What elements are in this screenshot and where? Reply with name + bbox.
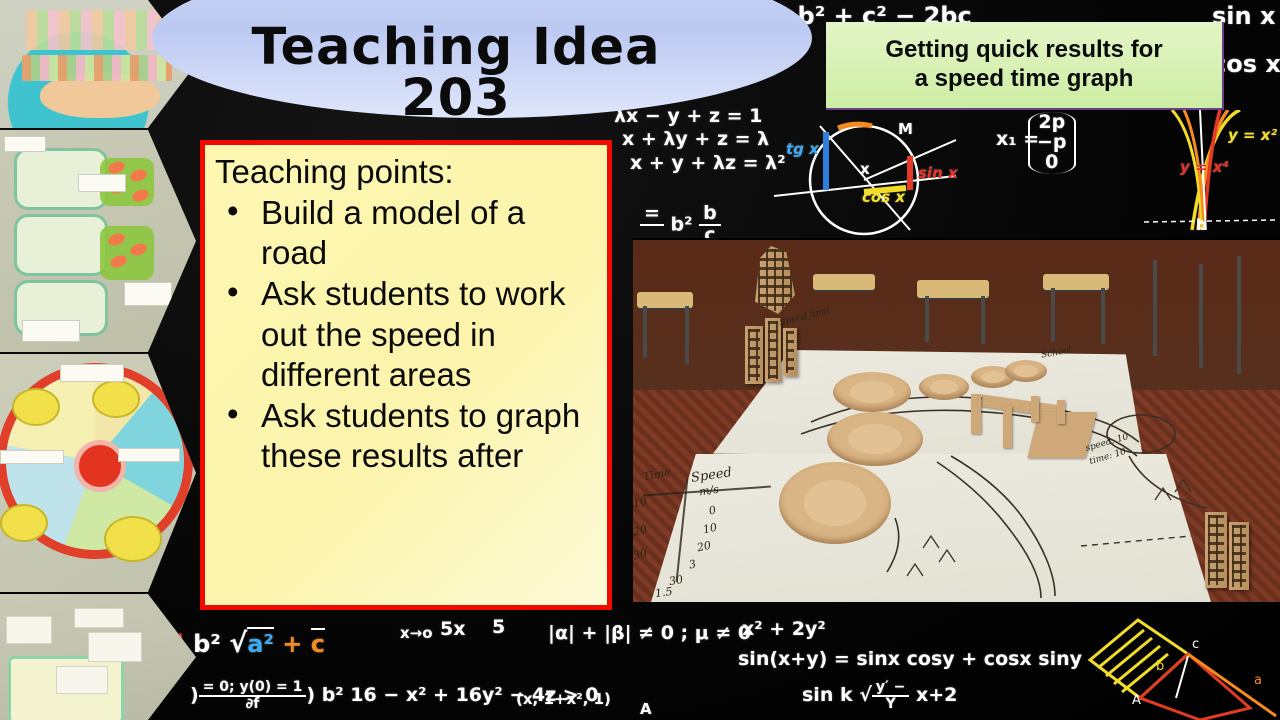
photo-bridge-pillar [1031,396,1039,422]
teaching-points-list: • Build a model of a road • Ask students… [215,193,597,477]
equals-sign: b² [671,213,693,235]
topic-banner: Getting quick results for a speed time g… [826,22,1224,110]
matrix-row: 2p [1037,113,1067,133]
photo-shape [60,364,124,382]
photo-shape [124,282,172,306]
chalk-term: sin k [802,684,853,706]
photo-shape [56,666,108,694]
photo-bridge-pillar [1057,400,1065,424]
chalk-label: x [860,160,870,178]
photo-shape [6,616,52,644]
chalk-label: A [640,700,652,718]
photo-building [745,326,763,384]
photo-strip [0,0,196,720]
svg-text:b: b [1156,659,1164,674]
photo-shape [118,448,180,462]
chalk-term: c [311,628,325,658]
photo-building [783,328,797,376]
list-item-label: Ask students to graph these results afte… [261,397,580,474]
photo-hill [1005,360,1047,382]
photo-shape [22,320,80,342]
chalk-equation: sin(x+y) = sinx cosy + cosx siny [738,648,1082,670]
chalk-term: + [282,630,302,658]
photo-hill [919,374,969,400]
chalk-label: b [1196,216,1207,234]
photo-hill [779,462,891,544]
chalk-label: sin x [918,164,958,182]
photo-shape [0,450,64,464]
svg-text:c: c [1192,637,1199,652]
photo-student-worksheet-display [0,594,196,720]
photo-shape [92,380,140,418]
list-item: • Ask students to work out the speed in … [215,274,597,395]
chalk-label: cos x [862,188,905,206]
chalk-equation: sin k √y′ −Y x+2 [802,680,957,711]
photo-shape [78,174,126,192]
fraction-numerator: b [699,204,721,226]
photo-cycle-wheel-poster-display [0,354,196,592]
photo-content [0,594,196,720]
list-item: • Ask students to graph these results af… [215,396,597,477]
chalk-label: tg x [786,140,819,158]
fraction-numerator: = [640,204,664,226]
photo-shape [40,72,160,118]
pythagoras-diagram: c A a b [1080,612,1280,720]
topic-banner-line1: Getting quick results for [885,36,1162,63]
photo-shape [88,632,142,662]
chalk-term: x+2 [916,684,957,706]
photo-chair-leg [1153,260,1157,356]
equals-sign: b² [193,630,221,658]
topic-banner-line2: a speed time graph [915,65,1134,92]
photo-shape [0,504,48,542]
equals-sign: b² [322,684,344,706]
photo-chair-leg [1051,288,1055,342]
list-item: • Build a model of a road [215,193,597,274]
partial-numerator: = 0; y(0) = 1 [199,680,307,697]
photo-shape [12,388,60,426]
partial-denominator: ∂f [199,697,307,712]
photo-chair-leg [1101,288,1105,344]
photo-chair-leg [925,296,929,342]
chalk-equation: x + λy + z = λ [622,128,769,150]
photo-road-model-activity: Speed m/s Time 0 10 20 3 30 1.5 10 20 30… [633,238,1280,602]
chalk-label: y = x² [1228,126,1277,144]
matrix-row: −p [1037,133,1067,153]
photo-shape [74,608,124,628]
bullet-icon: • [227,191,239,231]
photo-chair-leg [981,296,985,344]
list-item-label: Ask students to work out the speed in di… [261,275,565,393]
photo-shape [14,214,108,276]
teaching-points-card: Teaching points: • Build a model of a ro… [200,140,612,610]
teaching-points-heading: Teaching points: [215,153,597,191]
photo-handwriting: m/s [698,483,719,499]
photo-building [1205,512,1227,588]
chalk-label: 5 [492,616,505,638]
matrix-row: 0 [1037,153,1067,173]
photo-hill [827,412,923,466]
photo-building [765,318,781,382]
photo-bridge-pillar [1003,406,1012,448]
svg-text:a: a [1254,673,1262,688]
chalk-equation: |α| + |β| ≠ 0 ; μ ≠ 0 [548,622,751,644]
page-title: Teaching Idea 203 [196,22,716,124]
chalk-equation: x² + 2y² [742,618,826,640]
photo-chair [813,274,875,290]
chalk-label: (x, 1+x², 1) [516,690,611,708]
chalk-label: M [898,120,913,138]
photo-shape [4,136,46,152]
photo-building [1229,522,1249,590]
photo-shape [100,226,154,280]
photo-handwriting: 1.5 [654,585,673,600]
photo-plant-cell-poster-display [0,130,196,352]
photo-chair-leg [1237,256,1241,374]
bullet-icon: • [227,394,239,434]
chalk-equation: | b² √a² + c [176,628,325,659]
photo-bridge-pillar [971,394,981,434]
photo-chair-leg [643,306,647,358]
list-item-label: Build a model of a road [261,194,525,271]
bullet-icon: • [227,272,239,312]
chalk-term: a² [247,627,274,658]
chalk-label: y = x⁴ [1180,158,1229,176]
ode-numerator: y′ − [872,680,909,697]
photo-content [0,354,196,592]
chalk-label: 5x [440,618,465,640]
slide-canvas: 2 = b² + c² − 2bc λx − y + z = 1 x + λy … [0,0,1280,720]
photo-hill [833,372,911,412]
photo-shape [104,516,162,562]
photo-content [0,130,196,352]
svg-text:A: A [1132,693,1141,708]
chalk-matrix: 2p −p 0 [1028,112,1076,174]
topic-banner-text: Getting quick results for a speed time g… [877,36,1170,94]
ode-denominator: Y [872,697,909,712]
chalk-label: x→o [400,624,433,642]
